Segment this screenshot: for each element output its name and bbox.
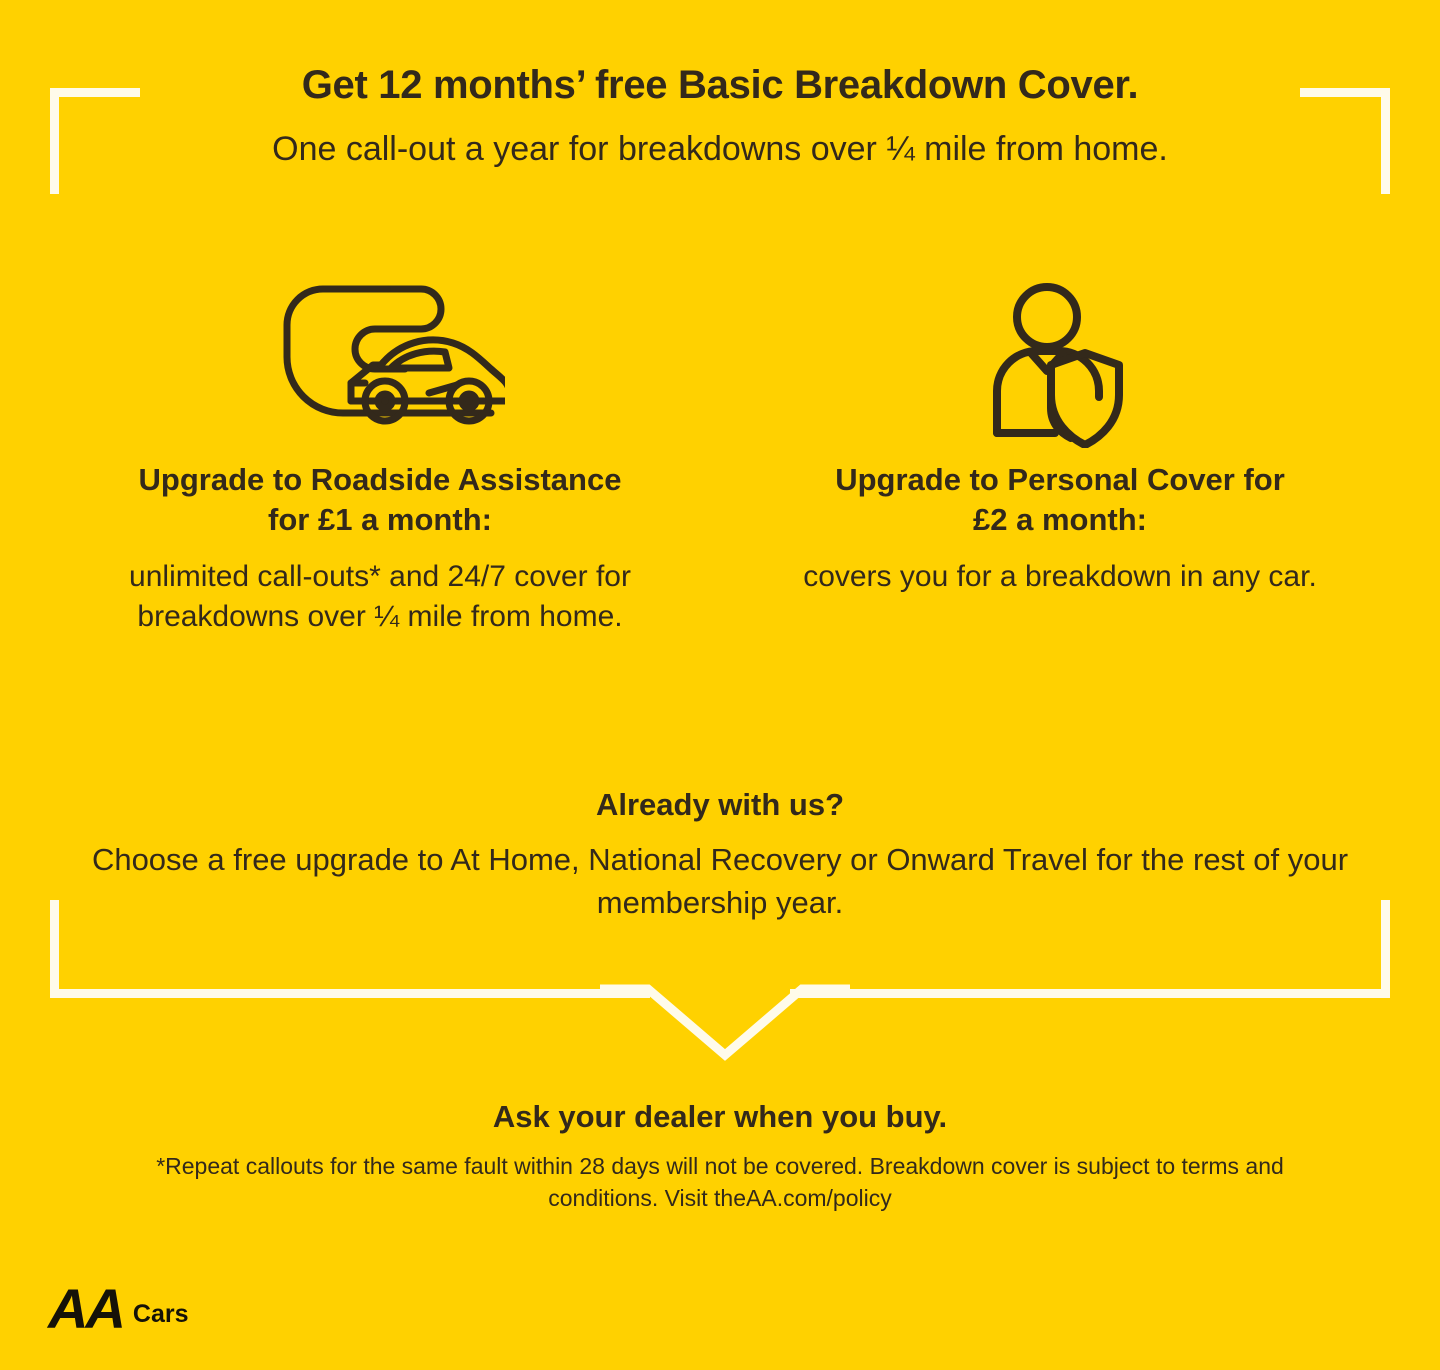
poster-root: Get 12 months’ free Basic Breakdown Cove… — [0, 0, 1440, 1370]
feature-roadside-assistance: Upgrade to Roadside Assistance for £1 a … — [20, 270, 720, 637]
aa-logo-wordmark: Cars — [133, 1302, 189, 1332]
bottom-bracket-notch-icon — [600, 975, 850, 1065]
headline-block: Get 12 months’ free Basic Breakdown Cove… — [0, 62, 1440, 170]
car-on-winding-road-icon — [100, 270, 660, 450]
disclaimer-text: *Repeat callouts for the same fault with… — [100, 1151, 1340, 1214]
aa-cars-logo: AA Cars — [48, 1286, 188, 1332]
bottom-right-bracket-horizontal — [790, 989, 1390, 998]
already-heading: Already with us? — [0, 786, 1440, 823]
feature-title: Upgrade to Roadside Assistance for £1 a … — [130, 460, 630, 539]
page-subtitle: One call-out a year for breakdowns over … — [0, 129, 1440, 170]
feature-title: Upgrade to Personal Cover for £2 a month… — [820, 460, 1300, 539]
feature-columns: Upgrade to Roadside Assistance for £1 a … — [0, 270, 1440, 637]
already-with-us-block: Already with us? Choose a free upgrade t… — [0, 786, 1440, 925]
feature-personal-cover: Upgrade to Personal Cover for £2 a month… — [720, 270, 1420, 597]
feature-body: covers you for a breakdown in any car. — [780, 557, 1340, 597]
person-with-shield-icon — [780, 270, 1340, 450]
page-title: Get 12 months’ free Basic Breakdown Cove… — [0, 62, 1440, 109]
already-body: Choose a free upgrade to At Home, Nation… — [85, 839, 1355, 925]
footer-block: Ask your dealer when you buy. *Repeat ca… — [0, 1098, 1440, 1215]
bottom-left-bracket-horizontal — [50, 989, 650, 998]
feature-body: unlimited call-outs* and 24/7 cover for … — [100, 557, 660, 636]
aa-logo-mark: AA — [48, 1286, 123, 1332]
call-to-action: Ask your dealer when you buy. — [0, 1098, 1440, 1135]
